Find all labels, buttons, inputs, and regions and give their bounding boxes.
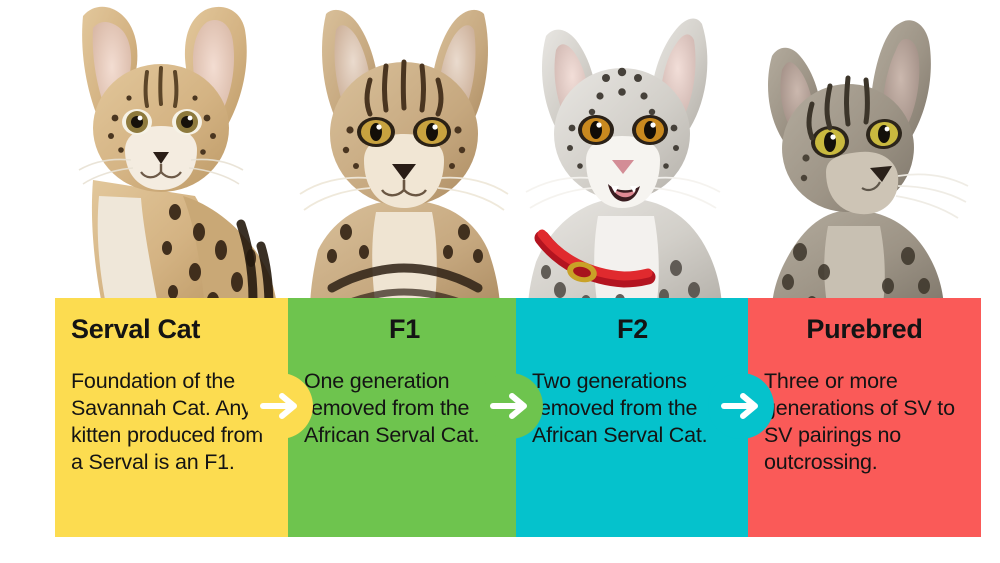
panel-body-serval: Foundation of the Savannah Cat. Any kitt… [71,368,272,476]
serval-cat-photo [55,0,288,310]
f1-savannah-cat-photo [288,0,521,310]
panel-title-f2: F2 [532,312,733,346]
f2-savannah-cat-photo [516,0,749,310]
arrow-serval-to-f1 [247,373,313,439]
panel-title-serval: Serval Cat [71,312,272,346]
panel-title-purebred: Purebred [764,312,965,346]
stage-serval: Serval Cat Foundation of the Savannah Ca… [55,0,288,563]
panel-body-f1: One generation removed from the African … [304,368,505,449]
arrow-f2-to-purebred [708,373,774,439]
arrow-right-icon [490,391,530,421]
savannah-cat-generations-infographic: Serval Cat Foundation of the Savannah Ca… [0,0,1000,563]
stage-f1: F1 One generation removed from the Afric… [288,0,521,563]
panel-body-f2: Two generations removed from the African… [532,368,733,449]
arrow-right-icon [260,391,300,421]
purebred-savannah-cat-photo [748,0,981,310]
panel-body-purebred: Three or more generations of SV to SV pa… [764,368,965,476]
stage-f2: F2 Two generations removed from the Afri… [516,0,749,563]
panel-purebred: Purebred Three or more generations of SV… [748,298,981,537]
arrow-f1-to-f2 [477,373,543,439]
stage-purebred: Purebred Three or more generations of SV… [748,0,981,563]
arrow-right-icon [721,391,761,421]
panel-title-f1: F1 [304,312,505,346]
